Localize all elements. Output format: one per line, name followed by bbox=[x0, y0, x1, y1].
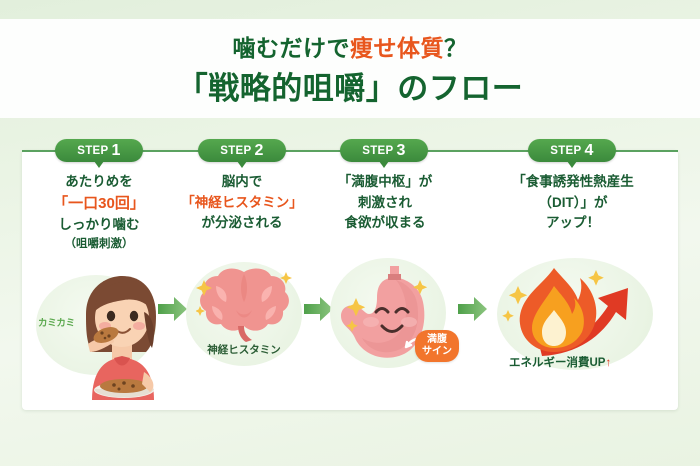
step-column-4: 「食事誘発性熱産生 （DIT）」が アップ！ bbox=[467, 172, 679, 234]
step-badge-2[interactable]: STEP2 bbox=[198, 139, 286, 162]
step-headline-3-line-3: 食欲が収まる bbox=[305, 213, 465, 234]
satiety-badge-line-2: サイン bbox=[422, 346, 452, 358]
step-column-1: あたりめを 「一口30回」 しっかり噛む （咀嚼刺激） bbox=[19, 172, 179, 253]
energy-caption-arrow: ↑ bbox=[605, 357, 611, 369]
step-headline-3-line-1: 「満腹中枢」が bbox=[305, 172, 465, 193]
step-badge-label-1: STEP bbox=[77, 145, 108, 157]
step-badge-label-3: STEP bbox=[362, 145, 393, 157]
brain-caption: 神経ヒスタミン bbox=[186, 342, 302, 357]
step-badge-3[interactable]: STEP3 bbox=[340, 139, 428, 162]
flame-up-arrow-icon bbox=[502, 262, 652, 362]
step-headline-2-line-2: 「神経ヒスタミン」 bbox=[162, 193, 322, 214]
title-accent: 痩せ体質 bbox=[350, 35, 444, 61]
step-headline-1-line-1: あたりめを bbox=[19, 172, 179, 193]
step-badge-number-4: 4 bbox=[585, 142, 594, 160]
step-headline-3: 「満腹中枢」が 刺激され 食欲が収まる bbox=[305, 172, 465, 234]
page-title-line-1: 噛むだけで痩せ体質？ bbox=[0, 29, 700, 63]
title-prefix: 噛むだけで bbox=[233, 35, 351, 61]
step-headline-4: 「食事誘発性熱産生 （DIT）」が アップ！ bbox=[467, 172, 679, 234]
step-headline-4-line-3: アップ！ bbox=[467, 213, 679, 234]
step-column-3: 「満腹中枢」が 刺激され 食欲が収まる bbox=[305, 172, 465, 234]
flow-arrow-1 bbox=[158, 296, 188, 322]
flow-arrow-3 bbox=[458, 296, 488, 322]
step-badge-number-3: 3 bbox=[397, 142, 406, 160]
step-headline-1-line-2: 「一口30回」 bbox=[19, 193, 179, 216]
step-column-2: 脳内で 「神経ヒスタミン」 が分泌される bbox=[162, 172, 322, 234]
step-headline-4-line-1: 「食事誘発性熱産生 bbox=[467, 172, 679, 193]
step-headline-2-line-1: 脳内で bbox=[162, 172, 322, 193]
satiety-signal-badge: 満腹 サイン bbox=[415, 330, 459, 362]
step-badge-4[interactable]: STEP4 bbox=[528, 139, 616, 162]
step-headline-4-line-2: （DIT）」が bbox=[467, 193, 679, 214]
page-title-line-2: 「戦略的咀嚼」のフロー bbox=[0, 63, 700, 108]
energy-consumption-caption: エネルギー消費UP↑ bbox=[509, 354, 611, 370]
title-band: 噛むだけで痩せ体質？ 「戦略的咀嚼」のフロー bbox=[0, 19, 700, 118]
step-headline-1: あたりめを 「一口30回」 しっかり噛む （咀嚼刺激） bbox=[19, 172, 179, 253]
step-badge-1[interactable]: STEP1 bbox=[55, 139, 143, 162]
step-badge-label-2: STEP bbox=[220, 145, 251, 157]
step-badge-number-1: 1 bbox=[112, 142, 121, 160]
step-headline-2: 脳内で 「神経ヒスタミン」 が分泌される bbox=[162, 172, 322, 234]
title-suffix: ？ bbox=[444, 35, 468, 61]
step-headline-3-line-2: 刺激され bbox=[305, 193, 465, 214]
step-badge-number-2: 2 bbox=[255, 142, 264, 160]
step-badge-label-4: STEP bbox=[550, 145, 581, 157]
energy-caption-text: エネルギー消費UP bbox=[509, 357, 605, 369]
woman-eating-icon bbox=[58, 272, 168, 402]
step-headline-1-line-3: しっかり噛む bbox=[19, 215, 179, 236]
step-headline-2-line-3: が分泌される bbox=[162, 213, 322, 234]
satiety-badge-line-1: 満腹 bbox=[422, 334, 452, 346]
brain-icon bbox=[196, 264, 294, 342]
step-headline-1-line-4: （咀嚼刺激） bbox=[19, 236, 179, 253]
